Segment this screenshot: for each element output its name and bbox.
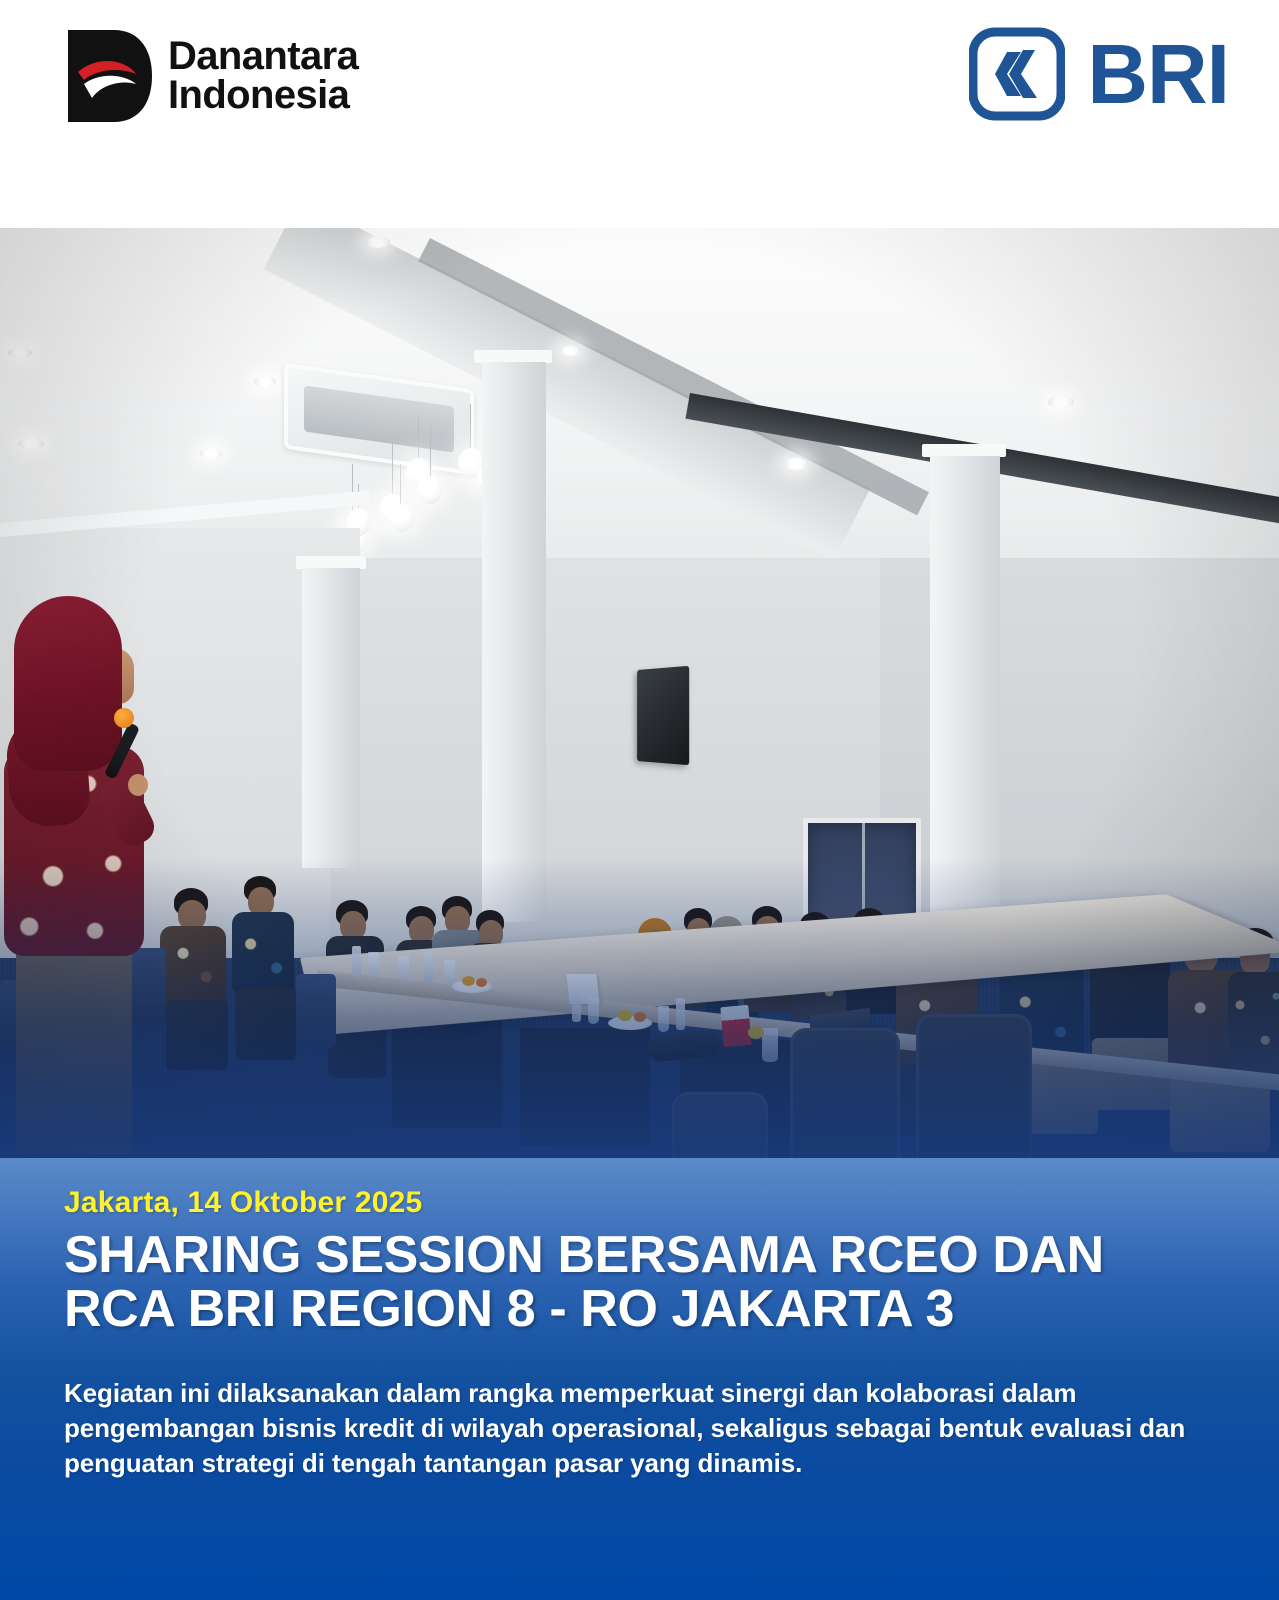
- table-base: [520, 1028, 650, 1146]
- column-left: [302, 568, 360, 868]
- office-chair: [916, 1014, 1032, 1158]
- pendant-wire: [392, 442, 393, 498]
- event-headline: SHARING SESSION BERSAMA RCEO DAN RCA BRI…: [64, 1228, 1231, 1336]
- drinking-glass: [368, 952, 379, 976]
- office-chair: [672, 1092, 768, 1158]
- column-right: [930, 456, 1000, 926]
- fruit: [748, 1026, 764, 1039]
- downlight-icon: [560, 346, 580, 356]
- downlight-icon: [8, 348, 32, 358]
- bri-mark-icon: [969, 26, 1065, 122]
- fruit: [462, 976, 475, 986]
- pendant-globe-light: [390, 504, 414, 532]
- torso: [160, 926, 226, 1004]
- downlight-icon: [784, 458, 808, 470]
- bri-logo: BRI: [969, 26, 1229, 122]
- poster: DanantaraIndonesia BRI: [0, 0, 1279, 1600]
- header-bar: DanantaraIndonesia BRI: [0, 0, 1279, 228]
- fruit: [476, 978, 487, 987]
- bri-wordmark: BRI: [1087, 32, 1229, 116]
- legs: [166, 1000, 228, 1070]
- danantara-line2: Indonesia: [168, 73, 349, 117]
- speaker-hand: [128, 774, 148, 796]
- water-bottle: [352, 946, 361, 976]
- water-bottle: [572, 990, 581, 1022]
- caption-content: Jakarta, 14 Oktober 2025 SHARING SESSION…: [64, 1186, 1231, 1481]
- fruit: [618, 1010, 632, 1021]
- danantara-line1: Danantara: [168, 34, 358, 78]
- table-base: [392, 1018, 502, 1128]
- tissue-box: [720, 1005, 751, 1047]
- downlight-icon: [18, 438, 44, 449]
- meeting-room-scene: [0, 228, 1279, 1158]
- column-center: [482, 362, 546, 922]
- speaker-hijab: [14, 596, 122, 771]
- drinking-glass: [398, 956, 409, 980]
- event-description: Kegiatan ini dilaksanakan dalam rangka m…: [64, 1376, 1224, 1481]
- torso: [1228, 972, 1279, 1082]
- downlight-icon: [254, 376, 276, 387]
- wall-mounted-tv: [637, 666, 689, 765]
- speaker-presenter: [4, 596, 164, 1156]
- event-photo: [0, 228, 1279, 1158]
- danantara-logo: DanantaraIndonesia: [66, 28, 358, 124]
- drinking-glass: [588, 998, 599, 1024]
- stacking-chair: [296, 974, 336, 1048]
- pendant-wire: [418, 418, 419, 462]
- event-date: Jakarta, 14 Oktober 2025: [64, 1186, 1231, 1220]
- water-bottle: [676, 998, 685, 1030]
- water-bottle: [424, 952, 433, 982]
- danantara-wordmark: DanantaraIndonesia: [168, 37, 358, 115]
- legs: [236, 988, 296, 1060]
- drinking-glass: [444, 960, 455, 984]
- pendant-wire: [430, 426, 431, 480]
- downlight-icon: [200, 448, 222, 459]
- pendant-wire: [400, 464, 401, 508]
- danantara-mark-icon: [66, 28, 154, 124]
- fruit: [634, 1012, 646, 1022]
- pendant-globe-light: [418, 476, 442, 504]
- pendant-wire: [470, 404, 471, 452]
- torso: [232, 912, 294, 992]
- drinking-glass: [762, 1028, 778, 1062]
- office-chair: [790, 1028, 900, 1158]
- drinking-glass: [658, 1006, 669, 1032]
- downlight-icon: [366, 236, 390, 248]
- speaker-skirt: [16, 948, 132, 1156]
- downlight-icon: [1048, 396, 1074, 408]
- caption-banner: Jakarta, 14 Oktober 2025 SHARING SESSION…: [0, 1158, 1279, 1600]
- microphone-head-icon: [114, 708, 134, 728]
